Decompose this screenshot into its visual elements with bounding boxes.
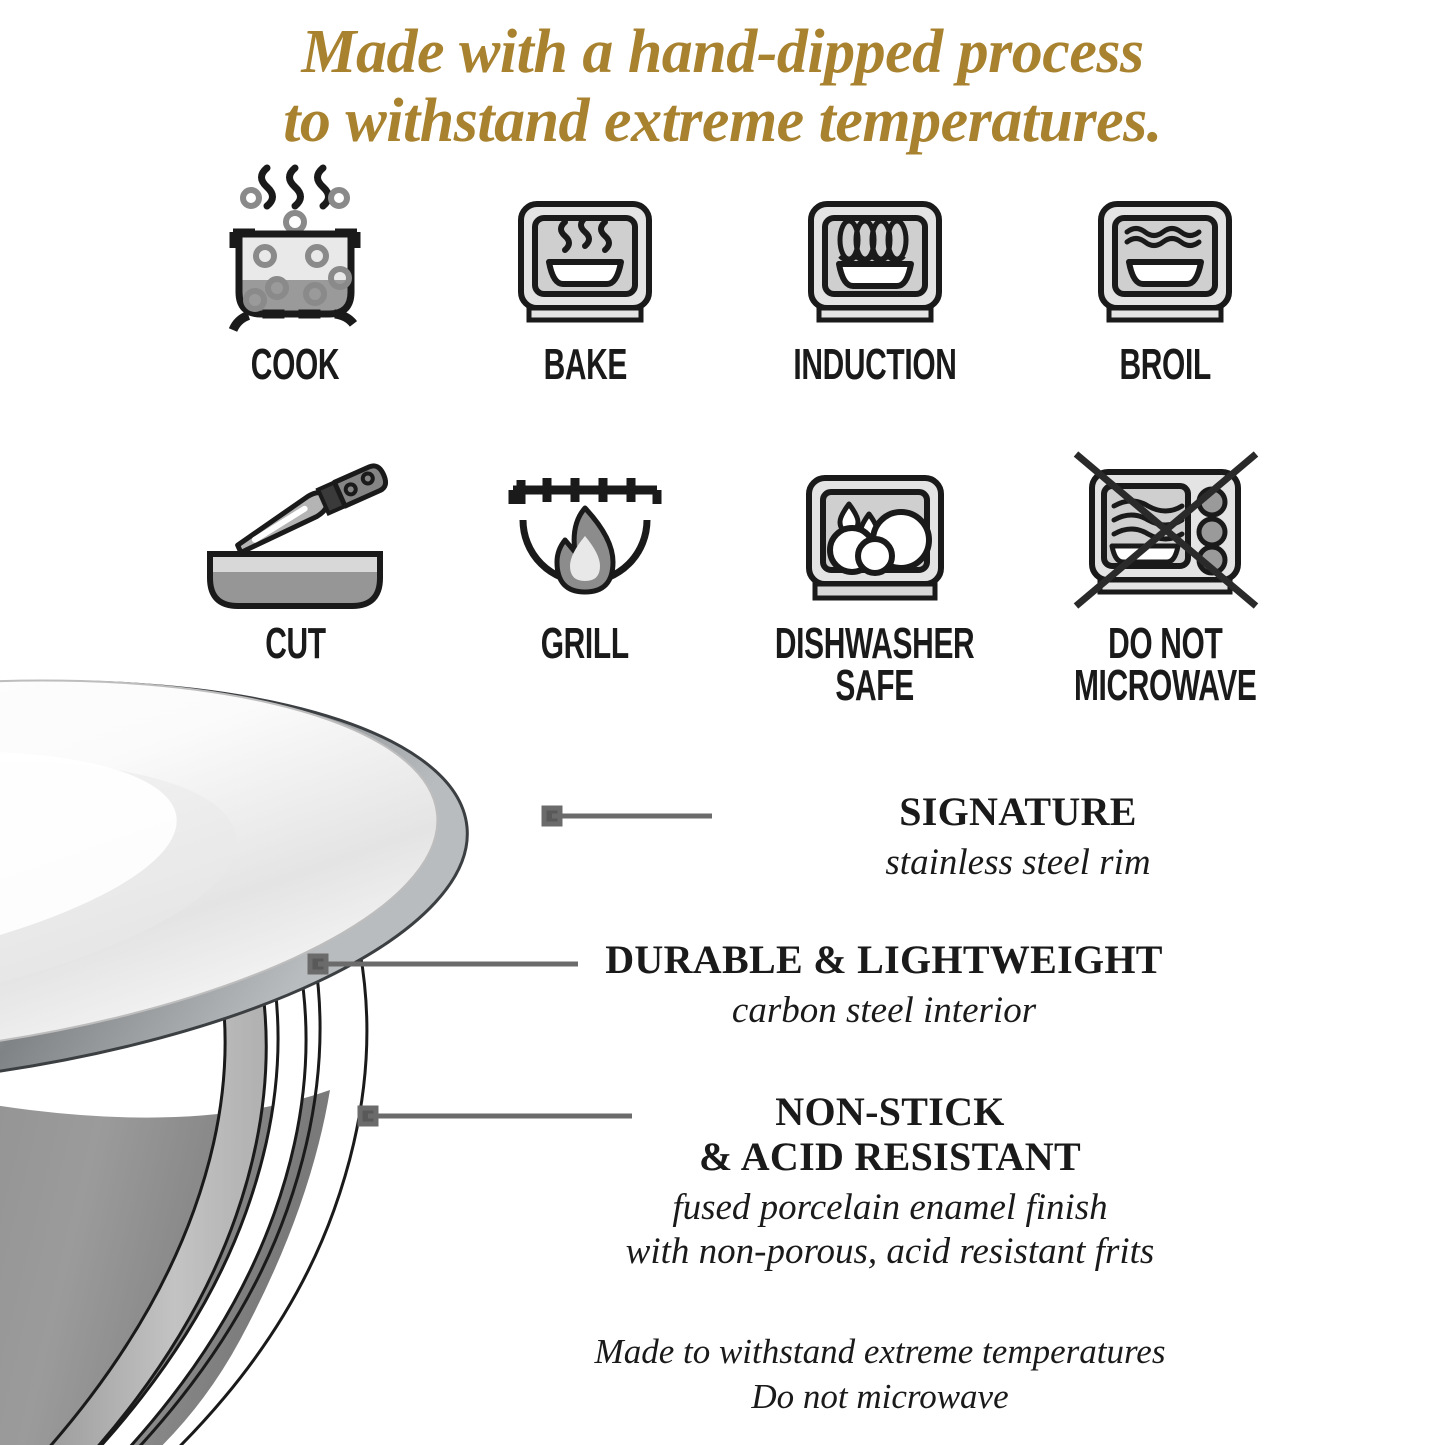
callout-subtitle: carbon steel interior: [584, 989, 1184, 1033]
callout-title: SIGNATURE: [718, 790, 1318, 835]
callout-non-stick: NON-STICK & ACID RESISTANT fused porcela…: [560, 1090, 1220, 1274]
callout-signature: SIGNATURE stainless steel rim: [718, 790, 1318, 885]
footnote: Made to withstand extreme temperatures D…: [530, 1330, 1230, 1420]
callout-title: DURABLE & LIGHTWEIGHT: [584, 938, 1184, 983]
callout-subtitle: fused porcelain enamel finish with non-p…: [560, 1186, 1220, 1275]
infographic-root: Made with a hand-dipped process to withs…: [0, 0, 1445, 1445]
callout-durable-lightweight: DURABLE & LIGHTWEIGHT carbon steel inter…: [584, 938, 1184, 1033]
callout-title: NON-STICK & ACID RESISTANT: [560, 1090, 1220, 1180]
callout-subtitle: stainless steel rim: [718, 841, 1318, 885]
